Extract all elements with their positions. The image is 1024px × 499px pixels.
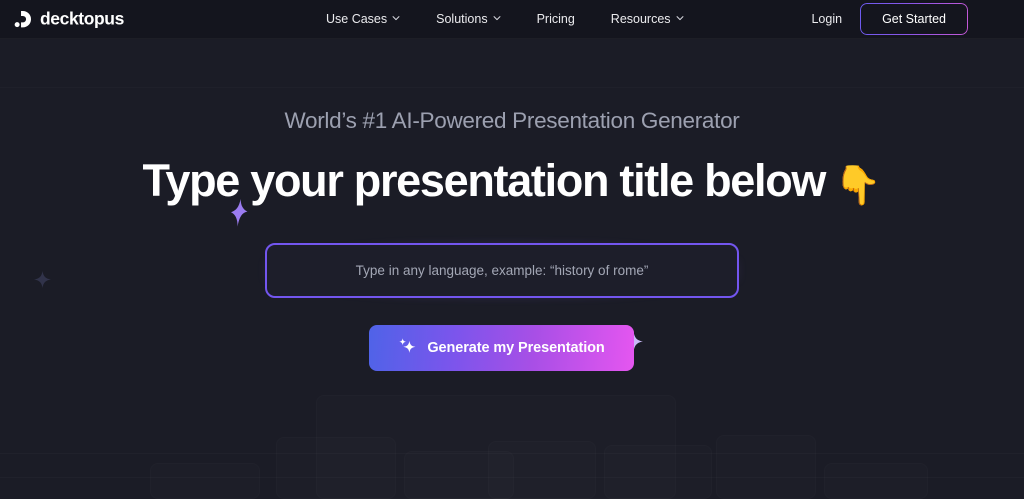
sparkles-icon: [398, 337, 417, 360]
chevron-down-icon: [392, 14, 400, 22]
get-started-button[interactable]: Get Started: [860, 3, 968, 35]
landing-page: decktopus Use Cases Solutions: [0, 0, 1024, 499]
chevron-down-icon: [493, 14, 501, 22]
brand-logo[interactable]: decktopus: [14, 10, 124, 29]
presentation-title-field-wrapper: [265, 243, 739, 298]
login-link[interactable]: Login: [811, 12, 842, 26]
below-fold-preview: [0, 385, 1024, 499]
nav-item-pricing[interactable]: Pricing: [537, 13, 593, 26]
hero-section: World’s #1 AI-Powered Presentation Gener…: [0, 39, 1024, 499]
presentation-title-input[interactable]: [265, 243, 739, 298]
headline-text: Type your presentation title below: [143, 155, 826, 206]
brand-name: decktopus: [40, 10, 124, 28]
pointing-down-emoji-icon: 👇: [834, 165, 881, 207]
hero-top-divider: [0, 87, 1024, 88]
nav-item-solutions[interactable]: Solutions: [436, 13, 518, 26]
sparkle-icon: [34, 271, 51, 288]
nav-item-label: Resources: [611, 13, 671, 26]
main-navigation: Use Cases Solutions Pricing: [326, 0, 684, 38]
chevron-down-icon: [676, 14, 684, 22]
nav-item-label: Pricing: [537, 13, 575, 26]
nav-item-label: Use Cases: [326, 13, 387, 26]
nav-item-label: Solutions: [436, 13, 487, 26]
auth-actions: Login Get Started: [811, 3, 968, 35]
decktopus-d-mark-icon: [14, 10, 33, 29]
hero-eyebrow: World’s #1 AI-Powered Presentation Gener…: [0, 110, 1024, 133]
site-header: decktopus Use Cases Solutions: [0, 0, 1024, 38]
generate-presentation-button[interactable]: Generate my Presentation: [369, 325, 634, 371]
nav-item-resources[interactable]: Resources: [611, 13, 684, 26]
page-title: Type your presentation title below👇: [0, 155, 1024, 207]
generate-presentation-label: Generate my Presentation: [427, 340, 604, 356]
nav-item-use-cases[interactable]: Use Cases: [326, 13, 418, 26]
